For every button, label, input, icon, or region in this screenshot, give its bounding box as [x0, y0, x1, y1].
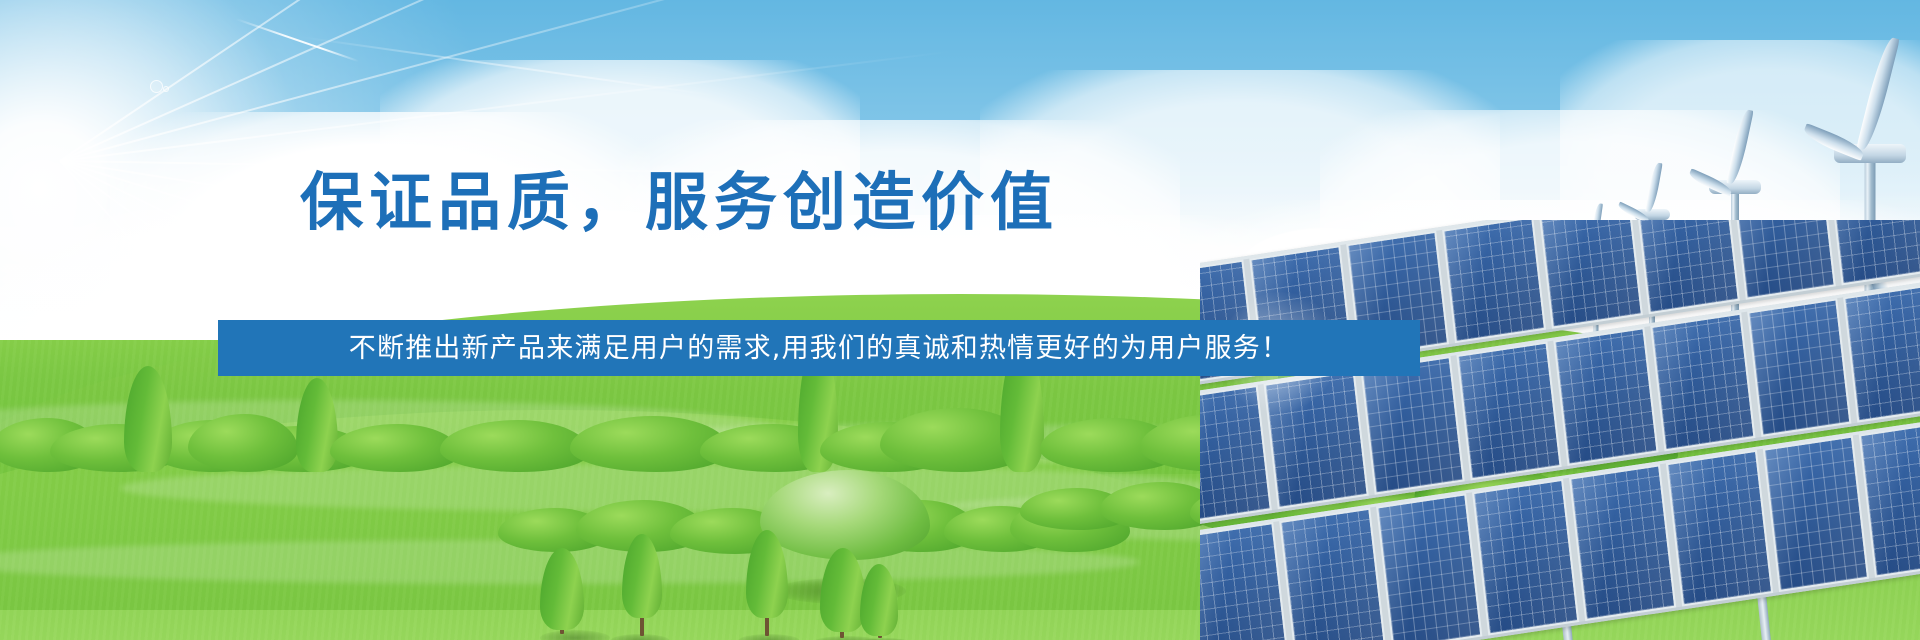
- solar-panel: [1666, 450, 1773, 607]
- lens-flare-dot: [150, 80, 163, 93]
- solar-panel: [1859, 421, 1920, 578]
- solar-panel-array: [1200, 220, 1920, 640]
- solar-panel: [1636, 220, 1740, 314]
- solar-panel: [1747, 298, 1852, 437]
- solar-panel: [1376, 493, 1483, 640]
- solar-panel: [1200, 385, 1272, 524]
- subtitle-band: 不断推出新产品来满足用户的需求,用我们的真诚和热情更好的为用户服务！: [218, 320, 1420, 376]
- solar-panel: [1457, 342, 1562, 481]
- solar-panel: [1844, 284, 1920, 423]
- solar-panel: [1263, 370, 1368, 509]
- solar-panel: [1279, 508, 1386, 640]
- subtitle-text: 不断推出新产品来满足用户的需求,用我们的真诚和热情更好的为用户服务！: [349, 335, 1289, 362]
- solar-panel: [1762, 435, 1869, 592]
- solar-panel: [1200, 522, 1289, 640]
- hero-banner: 保证品质，服务创造价值 不断推出新产品来满足用户的需求,用我们的真诚和热情更好的…: [0, 0, 1920, 640]
- solar-panel: [1539, 220, 1643, 329]
- page-title: 保证品质，服务创造价值: [300, 170, 1059, 236]
- solar-panel: [1829, 220, 1920, 285]
- lens-flare-dot: [163, 86, 169, 92]
- solar-panel: [1553, 327, 1658, 466]
- solar-panel: [1472, 479, 1579, 636]
- solar-panel: [1569, 464, 1676, 621]
- solar-panel: [1360, 356, 1465, 495]
- solar-panel: [1733, 220, 1837, 300]
- solar-panel: [1650, 313, 1755, 452]
- solar-panel: [1442, 220, 1546, 343]
